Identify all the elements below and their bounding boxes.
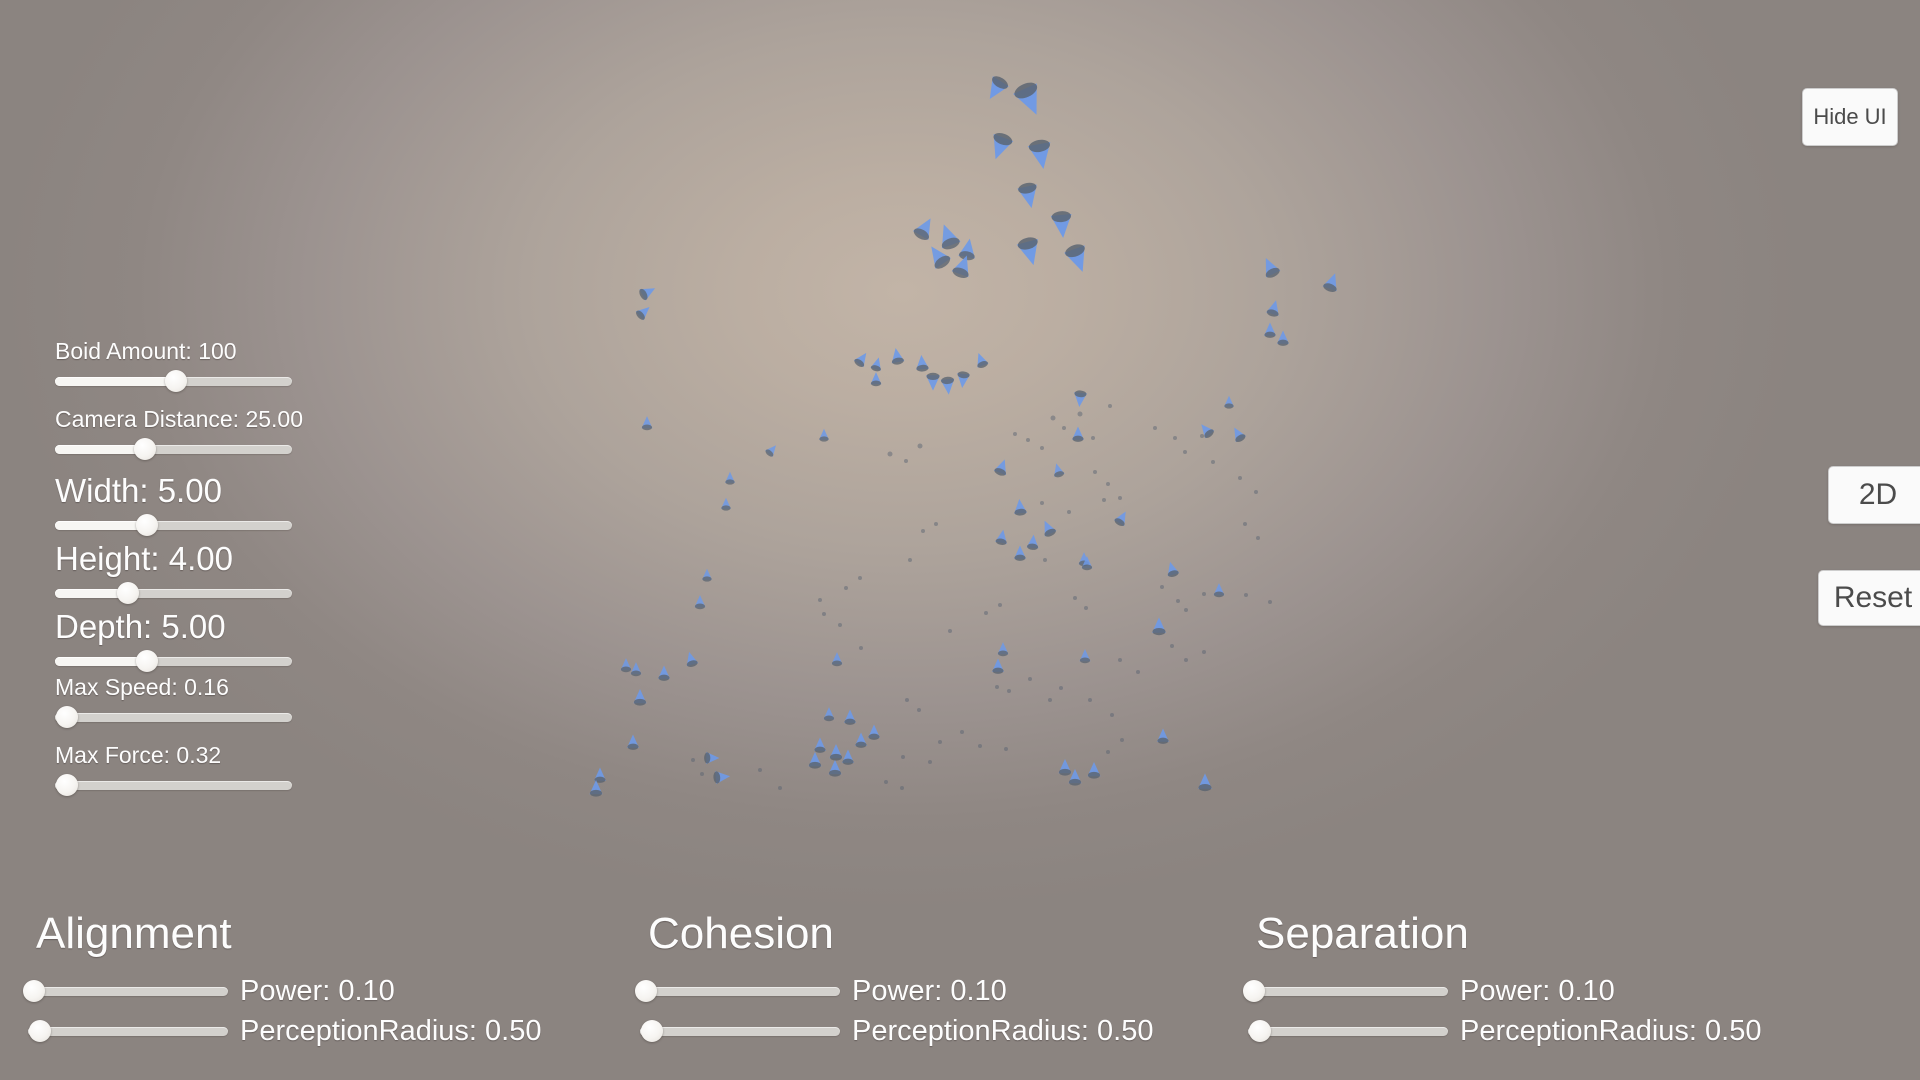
boid-body xyxy=(1064,245,1093,275)
boid-base xyxy=(686,659,698,668)
separation-power-label: Power: 0.10 xyxy=(1460,978,1615,1004)
boid-body xyxy=(1266,299,1282,316)
boid-base xyxy=(1322,282,1338,294)
boid-body xyxy=(889,347,904,363)
boid-body xyxy=(926,375,940,390)
boid-far xyxy=(1004,747,1008,751)
boid xyxy=(1322,271,1343,294)
boid xyxy=(855,733,867,748)
cohesion-title: Cohesion xyxy=(648,912,834,956)
boid-base xyxy=(993,467,1007,477)
boid-base xyxy=(819,436,828,441)
boid-base xyxy=(1051,210,1071,223)
boid-base xyxy=(1028,138,1051,153)
boid-body xyxy=(1088,762,1101,776)
separation-power-slider-knob[interactable] xyxy=(1243,980,1265,1002)
boid-far xyxy=(938,740,942,744)
boid-base xyxy=(809,762,821,769)
boid-far xyxy=(908,558,912,562)
camera-distance-slider-knob[interactable] xyxy=(134,438,156,460)
cohesion-power-label: Power: 0.10 xyxy=(852,978,1007,1004)
boid-far xyxy=(1118,496,1122,500)
separation-perception-radius-slider[interactable] xyxy=(1248,1020,1448,1042)
boid-body xyxy=(1013,498,1027,513)
boid xyxy=(1072,427,1084,442)
boid-far xyxy=(1268,600,1272,604)
separation-power-slider[interactable] xyxy=(1248,980,1448,1002)
boid-body xyxy=(1014,546,1026,559)
simulation-settings-panel: Boid Amount: 100Camera Distance: 25.00Wi… xyxy=(0,0,420,860)
boid-far xyxy=(1062,426,1066,430)
boid-body xyxy=(627,735,639,748)
boid xyxy=(1113,509,1131,528)
boid-far xyxy=(778,786,782,790)
boid-body xyxy=(973,351,989,367)
boid xyxy=(1016,235,1044,268)
boid-far xyxy=(1244,593,1248,597)
boid-body xyxy=(870,356,884,371)
boid-body xyxy=(1080,649,1091,661)
boid-base xyxy=(658,675,669,681)
boid-far xyxy=(1110,713,1114,717)
depth-slider-knob[interactable] xyxy=(136,650,158,672)
max-force-slider-track[interactable] xyxy=(55,781,292,790)
boid-far xyxy=(700,772,704,776)
boid-far xyxy=(1173,436,1177,440)
boid-body xyxy=(998,642,1009,654)
boid-base xyxy=(1266,308,1279,318)
boid xyxy=(889,347,905,366)
boid xyxy=(956,371,971,389)
boid-body xyxy=(832,652,843,664)
max-speed-slider-knob[interactable] xyxy=(56,706,78,728)
max-force-slider[interactable] xyxy=(55,774,292,796)
cohesion-perception-radius-slider[interactable] xyxy=(640,1020,840,1042)
boid xyxy=(992,659,1004,674)
boid-base xyxy=(998,651,1008,657)
boid xyxy=(842,750,854,765)
boid-base xyxy=(941,376,955,384)
boid xyxy=(1013,498,1027,516)
boid xyxy=(844,710,856,725)
boid-base xyxy=(1203,428,1216,440)
boid-body xyxy=(854,349,871,367)
boid-far xyxy=(1108,404,1112,408)
boid-body xyxy=(642,416,653,428)
boid-base xyxy=(1016,235,1039,251)
boid-far xyxy=(998,603,1002,607)
alignment-perception-radius-slider-track[interactable] xyxy=(28,1027,228,1036)
boid-base xyxy=(830,754,842,761)
boid-far xyxy=(928,760,932,764)
boid-base xyxy=(1167,569,1179,578)
boid-far xyxy=(1040,501,1044,505)
boid-body xyxy=(1277,331,1289,344)
boid xyxy=(1088,762,1101,779)
boid-body xyxy=(636,303,654,321)
boid-base xyxy=(1059,769,1071,776)
boid-body xyxy=(1164,560,1179,576)
alignment-title: Alignment xyxy=(36,912,232,956)
boid-body xyxy=(1072,427,1084,440)
boid-body xyxy=(1198,773,1212,788)
max-force-slider-knob[interactable] xyxy=(56,774,78,796)
group-cohesion: CohesionPower: 0.10PerceptionRadius: 0.5… xyxy=(640,912,1240,1052)
boid xyxy=(631,662,642,676)
boid-base xyxy=(627,744,638,750)
boid-base xyxy=(824,716,834,722)
boid-body xyxy=(1073,392,1087,407)
boid-base xyxy=(951,266,970,281)
boid-far xyxy=(917,708,921,712)
boid xyxy=(683,650,698,668)
boid-far xyxy=(1043,558,1047,562)
boid-body xyxy=(1027,534,1040,548)
boid xyxy=(868,725,880,740)
cohesion-perception-radius-label: PerceptionRadius: 0.50 xyxy=(852,1018,1153,1044)
boid xyxy=(819,429,829,442)
max-speed-label: Max Speed: 0.16 xyxy=(55,676,229,699)
simulation-viewport[interactable]: Boid Amount: 100Camera Distance: 25.00Wi… xyxy=(0,0,1920,1080)
boid-body xyxy=(1157,729,1169,742)
boid-body xyxy=(844,710,856,723)
boid-base xyxy=(1199,784,1212,791)
boid-far xyxy=(934,522,938,526)
camera-distance-label: Camera Distance: 25.00 xyxy=(55,408,303,431)
boid-far xyxy=(1238,476,1242,480)
boid-body xyxy=(829,760,842,774)
boid xyxy=(829,760,842,777)
boid-base xyxy=(1224,403,1233,408)
boid-far xyxy=(1202,592,1206,596)
boid-base xyxy=(695,604,705,610)
boid-base xyxy=(1027,543,1039,550)
boid-body xyxy=(986,134,1013,163)
width-label: Width: 5.00 xyxy=(55,474,222,507)
boid xyxy=(764,442,780,458)
boid-base xyxy=(642,425,652,431)
separation-perception-radius-row: PerceptionRadius: 0.50 xyxy=(1248,1018,1768,1044)
boid-body xyxy=(1323,271,1343,292)
cohesion-perception-radius-slider-track[interactable] xyxy=(640,1027,840,1036)
boid-far xyxy=(1170,644,1174,648)
boid xyxy=(621,658,632,672)
separation-perception-radius-slider-knob[interactable] xyxy=(1249,1020,1271,1042)
behaviour-rules-panel: AlignmentPower: 0.10PerceptionRadius: 0.… xyxy=(0,920,1920,1080)
boid-base xyxy=(814,747,825,753)
cohesion-power-slider-track[interactable] xyxy=(640,987,840,996)
boid-far xyxy=(844,586,848,590)
boid-base xyxy=(990,74,1010,92)
separation-power-row: Power: 0.10 xyxy=(1248,978,1768,1004)
boid-base xyxy=(958,250,975,261)
boid-body xyxy=(1059,759,1072,773)
boid-body xyxy=(956,373,970,389)
alignment-power-slider-knob[interactable] xyxy=(23,980,45,1002)
boid-body xyxy=(1264,323,1276,336)
dimension-toggle-label: 2D xyxy=(1859,478,1897,512)
boid-far xyxy=(838,623,842,627)
boid-body xyxy=(871,372,882,384)
boid xyxy=(634,303,653,322)
boid-base xyxy=(1214,592,1224,598)
boid-base xyxy=(992,668,1003,674)
boid-base xyxy=(1264,332,1275,338)
boid-base xyxy=(927,373,940,380)
cohesion-power-slider[interactable] xyxy=(640,980,840,1002)
depth-slider[interactable] xyxy=(55,650,292,672)
boid-body xyxy=(982,76,1009,104)
boid-body xyxy=(952,252,976,277)
boid-base xyxy=(871,381,881,387)
boid-base xyxy=(992,131,1014,148)
boid xyxy=(1152,617,1166,635)
boid xyxy=(1026,534,1039,550)
reset-label: Reset xyxy=(1834,581,1912,615)
boid-far xyxy=(905,698,909,702)
reset-button[interactable]: Reset xyxy=(1818,570,1920,626)
boid xyxy=(824,707,835,721)
boid-far xyxy=(858,576,862,580)
boid-far xyxy=(1254,490,1258,494)
boid xyxy=(814,738,826,753)
boid-body xyxy=(725,472,735,483)
boid-far xyxy=(1091,436,1095,440)
max-force-label: Max Force: 0.32 xyxy=(55,744,221,767)
boid-body xyxy=(634,689,647,703)
boid xyxy=(634,689,647,706)
cohesion-perception-radius-row: PerceptionRadius: 0.50 xyxy=(640,1018,1160,1044)
boid-body xyxy=(621,658,632,670)
boid xyxy=(998,642,1009,656)
boid-far xyxy=(1183,450,1187,454)
boid-body xyxy=(1079,552,1090,564)
cohesion-perception-radius-slider-knob[interactable] xyxy=(641,1020,663,1042)
hide-ui-button[interactable]: Hide UI xyxy=(1802,88,1898,146)
dimension-toggle-button[interactable]: 2D xyxy=(1828,466,1920,524)
boid-base xyxy=(621,667,631,673)
separation-power-slider-track[interactable] xyxy=(1248,987,1448,996)
boid xyxy=(958,237,978,261)
cohesion-power-slider-knob[interactable] xyxy=(635,980,657,1002)
boid xyxy=(993,457,1011,477)
boid-body xyxy=(814,738,826,751)
boid-body xyxy=(1017,185,1041,211)
boid-base xyxy=(855,742,866,748)
boid-far xyxy=(1120,738,1124,742)
boid-amount-slider[interactable] xyxy=(55,370,292,392)
boid-far xyxy=(1153,426,1157,430)
boid-base xyxy=(1014,508,1027,516)
boid xyxy=(973,351,989,370)
boid xyxy=(594,768,606,783)
boid-far xyxy=(1106,750,1110,754)
boid xyxy=(832,652,843,666)
max-speed-slider-track[interactable] xyxy=(55,713,292,722)
boid-far xyxy=(900,786,904,790)
boid xyxy=(642,416,653,430)
boid-base xyxy=(1074,390,1087,398)
boid xyxy=(940,376,955,395)
separation-perception-radius-slider-track[interactable] xyxy=(1248,1027,1448,1036)
camera-distance-slider[interactable] xyxy=(55,438,292,460)
boid xyxy=(995,529,1009,546)
boid-base xyxy=(702,576,711,581)
boid-base xyxy=(1153,628,1166,635)
boid-far xyxy=(1013,432,1017,436)
boid-far xyxy=(1040,446,1044,450)
alignment-perception-radius-slider[interactable] xyxy=(28,1020,228,1042)
boid-far xyxy=(1118,658,1122,662)
boid-base xyxy=(721,505,730,510)
boid-base xyxy=(1080,658,1090,664)
boid-base xyxy=(932,253,952,271)
boid-far xyxy=(859,646,863,650)
boid xyxy=(1027,138,1055,171)
boid-body xyxy=(992,659,1004,672)
boid-body xyxy=(1051,214,1074,239)
boid-body xyxy=(842,750,854,763)
boid-body xyxy=(1039,518,1057,536)
boid-far xyxy=(984,611,988,615)
boid-body xyxy=(1152,617,1166,632)
boid xyxy=(1069,769,1082,786)
boid-body xyxy=(721,498,731,509)
depth-slider-fill xyxy=(55,657,147,666)
boid xyxy=(830,744,843,761)
height-slider[interactable] xyxy=(55,582,292,604)
hide-ui-label: Hide UI xyxy=(1813,104,1886,130)
boid xyxy=(1050,210,1073,239)
boid-body xyxy=(958,237,978,258)
boid-base xyxy=(713,771,721,784)
alignment-perception-radius-label: PerceptionRadius: 0.50 xyxy=(240,1018,541,1044)
boid-body xyxy=(868,725,880,738)
boid xyxy=(870,356,884,372)
boid-far xyxy=(1026,438,1030,442)
boid xyxy=(934,221,961,252)
boid-far xyxy=(1007,689,1011,693)
boid-body xyxy=(1224,396,1234,407)
boid-far xyxy=(1256,536,1260,540)
group-alignment: AlignmentPower: 0.10PerceptionRadius: 0.… xyxy=(28,912,628,1052)
max-speed-slider[interactable] xyxy=(55,706,292,728)
boid-base xyxy=(1043,527,1057,538)
boid-far xyxy=(921,529,925,533)
boid-base xyxy=(631,671,641,677)
boid-far xyxy=(822,612,826,616)
boid-far xyxy=(1088,698,1092,702)
boid-body xyxy=(830,744,843,758)
alignment-power-label: Power: 0.10 xyxy=(240,978,395,1004)
alignment-perception-radius-slider-knob[interactable] xyxy=(29,1020,51,1042)
boid-far xyxy=(884,780,888,784)
boid-body xyxy=(855,733,867,746)
boid-far xyxy=(1184,608,1188,612)
boid-body xyxy=(915,354,929,369)
boid-base xyxy=(1079,561,1089,567)
boid-far xyxy=(1211,460,1215,464)
boid-body xyxy=(1259,255,1281,278)
boid xyxy=(915,354,929,372)
boid-body xyxy=(1051,462,1065,477)
width-slider[interactable] xyxy=(55,514,292,536)
boid-base xyxy=(1277,340,1288,346)
boid-body xyxy=(994,457,1011,475)
boid xyxy=(1198,773,1212,791)
boid-body xyxy=(1028,142,1055,171)
boid-base xyxy=(1053,470,1064,478)
boid xyxy=(695,595,706,609)
boid xyxy=(1063,242,1093,276)
camera-distance-slider-fill xyxy=(55,445,145,454)
boid-body xyxy=(1114,509,1131,526)
group-separation: SeparationPower: 0.10PerceptionRadius: 0… xyxy=(1248,912,1848,1052)
boid xyxy=(951,252,976,280)
boid xyxy=(1017,181,1042,210)
height-slider-knob[interactable] xyxy=(117,582,139,604)
boid xyxy=(1266,299,1283,318)
boid-base xyxy=(1017,181,1037,195)
boid xyxy=(1080,649,1091,663)
boid xyxy=(1082,556,1093,570)
boid-base xyxy=(995,538,1007,546)
boid-base xyxy=(832,661,842,667)
boid-far xyxy=(1106,482,1110,486)
boid-base xyxy=(940,235,961,251)
boid xyxy=(721,498,731,511)
boid-base xyxy=(957,371,970,379)
boid-far xyxy=(888,452,893,457)
boid-base xyxy=(853,357,866,368)
boid-far xyxy=(948,629,952,633)
boid-body xyxy=(913,214,938,240)
boid-far xyxy=(1160,585,1164,589)
depth-label: Depth: 5.00 xyxy=(55,610,226,643)
boid-amount-label: Boid Amount: 100 xyxy=(55,340,237,363)
alignment-power-slider[interactable] xyxy=(28,980,228,1002)
boid-base xyxy=(912,226,931,242)
boid-amount-slider-knob[interactable] xyxy=(165,370,187,392)
alignment-power-slider-track[interactable] xyxy=(28,987,228,996)
boid-base xyxy=(704,752,710,763)
boid xyxy=(702,569,712,582)
boid-body xyxy=(1082,556,1093,568)
boid-far xyxy=(1202,650,1206,654)
boid-far xyxy=(901,755,905,759)
boid xyxy=(982,73,1011,104)
boid xyxy=(986,130,1015,162)
width-slider-knob[interactable] xyxy=(136,514,158,536)
alignment-perception-radius-row: PerceptionRadius: 0.50 xyxy=(28,1018,548,1044)
boid-body xyxy=(1229,425,1246,442)
boid xyxy=(590,780,603,797)
boid-far xyxy=(818,598,822,602)
boid xyxy=(1051,462,1065,478)
boid-base xyxy=(638,288,650,302)
boid-body xyxy=(824,707,835,719)
boid-far xyxy=(1028,677,1032,681)
boid-body xyxy=(631,662,642,674)
boid-base xyxy=(594,777,605,783)
boid-body xyxy=(683,650,698,666)
cohesion-power-row: Power: 0.10 xyxy=(640,978,1160,1004)
boid-far xyxy=(758,768,762,772)
boid-far xyxy=(978,744,982,748)
boid-base xyxy=(829,770,841,777)
boid xyxy=(1073,390,1087,408)
boid-far xyxy=(1073,596,1077,600)
